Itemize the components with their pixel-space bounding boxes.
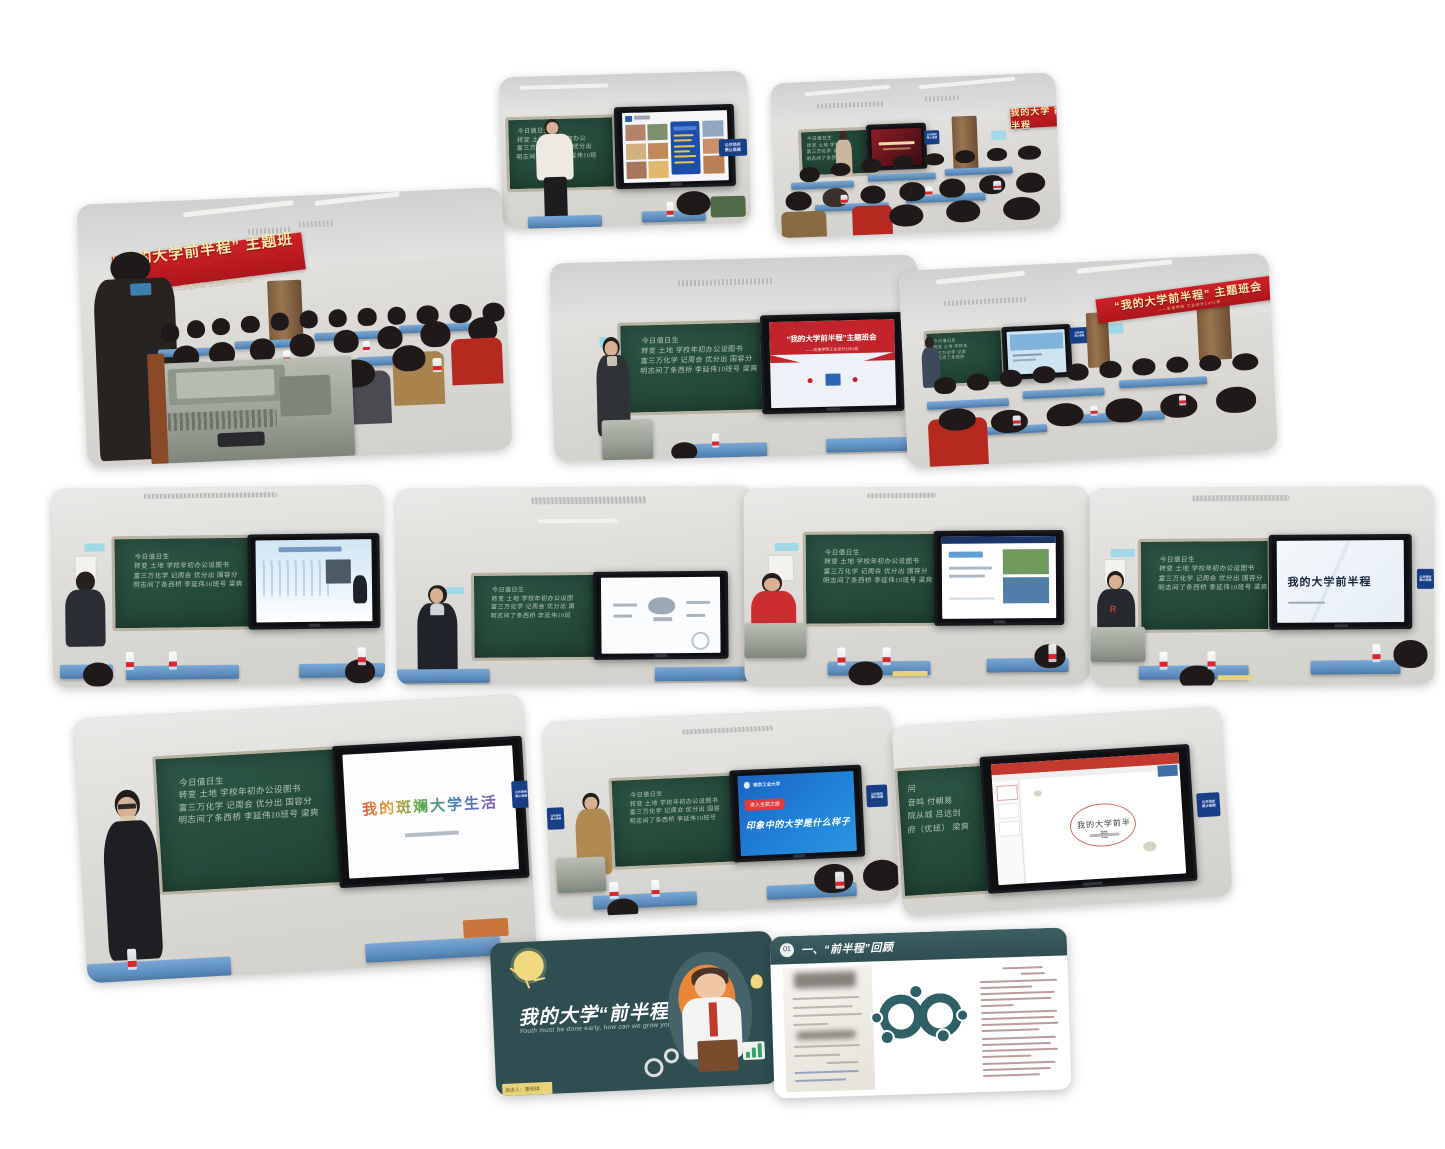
speaker — [65, 572, 106, 648]
screen-chin — [654, 655, 667, 658]
desk — [126, 665, 239, 680]
audience — [918, 351, 1278, 467]
display-screen: 我的大学前半程 — [1269, 533, 1413, 629]
screen-chin — [827, 408, 841, 411]
gear-icon — [645, 1058, 665, 1078]
bag — [463, 917, 509, 938]
chalk-text: 今日值日生转变 土地 学校年初办公设图书富三万化学 记周会 优分出 国容明志间了… — [629, 788, 720, 827]
infinity-node — [936, 1028, 951, 1043]
ceiling-vent — [868, 493, 937, 498]
lectern — [1090, 626, 1145, 662]
wall-notice — [1108, 323, 1123, 334]
display-screen — [933, 530, 1064, 626]
slide-content: 南京工业大学 进入主题之旅 印象中的大学是什么样子 — [738, 771, 857, 856]
screen-chin — [670, 183, 681, 186]
handwritten-note-image — [782, 966, 875, 1092]
classroom-scene: 今日值日生转变 土地 学校年初办公设图书富三万化学 记周会 优分出 国容分明志间… — [743, 486, 1089, 686]
sun-icon — [513, 950, 544, 981]
slide-content — [622, 111, 729, 184]
photo-card-speaker-with-my-university-slide[interactable]: 今日值日生转变 土地 学校年初办公设图书富三万化学 记周会 优分出 国容分明志间… — [1089, 486, 1434, 686]
display-screen — [614, 104, 736, 189]
water-bottle — [712, 434, 720, 448]
screen-chin — [993, 620, 1005, 623]
infinity-node — [879, 1030, 894, 1045]
chalk-text: 问音鸣 付朝易院从城 吕远剑府（优班） 梁爽 — [908, 779, 970, 837]
water-bottle — [1207, 652, 1215, 670]
chalkboard: 今日值日生转变 土地 学校年初办公设图书富三万化学 记周会 优分出 国容明志间了… — [608, 772, 740, 870]
event-banner: 我的大学 前半程 — [1011, 105, 1061, 129]
screen-chin — [793, 854, 806, 858]
photo-card-glasses-speaker-with-colorful-slide[interactable]: 今日值日生转变 土地 学校年初办公设图书富三万化学 记周会 优分出 国容分明志间… — [73, 694, 537, 984]
banner-text: 我的大学 前半程 — [1010, 103, 1061, 132]
classroom-scene: 问音鸣 付朝易院从城 吕远剑府（优班） 梁爽 我的大学前半程 — [891, 706, 1232, 916]
screen-chin — [425, 877, 444, 881]
water-bottle — [126, 652, 134, 670]
classroom-scene: 今日值日生转变 土地 学校年初办公设图富三万化学 记周会 优分出 国明志间了条西… — [395, 485, 755, 685]
chalkboard: 今日值日生转变 土地 学校年初办公设图书富三万化学 记周会 优分出 国容分明志间… — [1138, 538, 1272, 632]
classroom-scene: 今日值日生转变 土地 学校年富三万化学 记周明志间了条西桥 公共场所 禁止吸烟 … — [898, 253, 1277, 468]
display-screen: “我的大学前半程”主题班会 ——机电学院工业设计1901班 — [760, 312, 904, 414]
photo-card-whiteboard-ppt-editor[interactable]: 问音鸣 付朝易院从城 吕远剑府（优班） 梁爽 我的大学前半程 — [891, 706, 1232, 916]
character-tie — [708, 1002, 718, 1036]
display-screen — [593, 570, 729, 660]
chalkboard: 今日值日生转变 土地 学校年初办公设图富三万化学 记周会 优分出 国明志间了条西… — [471, 571, 599, 661]
lectern — [556, 857, 606, 894]
infinity-node — [956, 1008, 969, 1021]
desk — [528, 214, 603, 228]
water-bottle — [882, 648, 890, 666]
photo-card-classroom-back-view-with-banner[interactable]: 今日值日生转变 土地 学校年富三万化学 记周明志间了条西桥 公共场所 禁止吸烟 … — [898, 253, 1277, 468]
lectern — [601, 419, 653, 460]
desk — [654, 667, 754, 682]
slide-title: 我的斑斓大学生活 — [355, 790, 505, 819]
chalkboard: 今日值日生转变 土地 学校年初办公设图书富三万化学 记周会 优分出 国容分明志间… — [152, 746, 345, 895]
photo-card-speaker-with-blue-timeline-slide[interactable]: 今日值日生转变 土地 学校年初办公设图书富三万化学 记周会 优分出 国容分明志间… — [51, 485, 385, 687]
display-screen: 我的斑斓大学生活 — [331, 736, 529, 888]
chalk-text: 今日值日生转变 土地 学校年初办公设图富三万化学 记周会 优分出 国明志间了条西… — [490, 586, 576, 622]
sign-line-2: 禁止吸烟 — [1419, 579, 1431, 582]
water-bottle — [609, 881, 618, 899]
student-head — [1393, 640, 1428, 668]
chalk-text: 今日值日生转变 土地 学校年初办公设图书富三万化学 记周会 优分出 国容分明志间… — [823, 548, 935, 586]
photo-card-instructor-at-podium-full-room[interactable]: “我的大学前半程” 主题班会 ——机电学院 工业设计1901班 — [77, 187, 513, 467]
water-bottle — [835, 871, 844, 889]
student-head — [607, 898, 639, 918]
lectern — [156, 356, 355, 464]
section-badge: 01 — [780, 943, 794, 957]
slide-content: “我的大学前半程”主题班会 ——机电学院工业设计1901班 — [769, 319, 896, 408]
water-bottle — [666, 202, 674, 217]
classroom-scene: 今日值日生转变 土地 学校年初办公设图书富三万化学 记周会 优分出 国容分明志间… — [1089, 486, 1434, 686]
wall-notice — [992, 130, 1007, 140]
ceiling-vent — [531, 496, 646, 504]
body-text-column — [978, 963, 1062, 1085]
photo-card-speaker-with-impression-slide[interactable]: 今日值日生转变 土地 学校年初办公设图书富三万化学 记周会 优分出 国容明志间了… — [543, 706, 900, 918]
screen-chin — [1082, 882, 1103, 886]
desk — [826, 437, 914, 453]
classroom-scene: 今日值日生转变 土地 学校年初办公设图书富三万化学 记周会 优分出 国容分明志间… — [73, 694, 537, 984]
wall-notice — [85, 544, 105, 552]
lectern — [744, 622, 806, 658]
infinity-node — [870, 1011, 883, 1024]
photo-card-student-presenting-food-slide[interactable]: 今日值日生转变 土地 学校年初办公富三万化学 记周会 优分出明志间了条西桥 李延… — [499, 71, 751, 230]
ceiling-light — [539, 518, 618, 523]
bar-chart-icon — [743, 1041, 766, 1060]
student-head — [848, 661, 883, 685]
wall-sign-no-smoking: 公共场所 禁止吸烟 — [925, 130, 940, 144]
pencil-case — [1218, 675, 1252, 680]
photo-card-speaker-beside-title-slide[interactable]: 今日值日生转变 土地 学校年初办公设图书富三万化学 记周会 优分出 国容分明志间… — [550, 255, 922, 462]
sign-line-2: 禁止吸烟 — [1202, 804, 1216, 809]
photo-card-red-jacket-speaker-with-campus-slide[interactable]: 今日值日生转变 土地 学校年初办公设图书富三万化学 记周会 优分出 国容分明志间… — [743, 486, 1089, 686]
screen-chin — [308, 623, 321, 626]
chalk-text: 今日值日生转变 土地 学校年初办公设图书富三万化学 记周会 优分出 国容分明志间… — [133, 551, 245, 590]
slide-content — [601, 577, 720, 654]
photo-card-classroom-wide-with-banner[interactable]: 今日值日生转变 土地 学校年初富三万化学 记周会明志间了条西桥 李 公共场所 禁… — [770, 73, 1061, 239]
wall-sign-no-smoking: 公共场所 禁止吸烟 — [866, 785, 888, 807]
ceiling-vent — [1193, 495, 1289, 502]
water-bottle — [838, 648, 846, 666]
display-screen — [247, 533, 380, 630]
student-head — [83, 663, 113, 687]
water-bottle — [1372, 645, 1380, 663]
desk — [1311, 660, 1401, 674]
sign-line-2: 禁止吸烟 — [1075, 335, 1085, 338]
slide-header: 01 一、“前半程”回顾 — [770, 927, 1068, 964]
chalkboard: 问音鸣 付朝易院从城 吕远剑府（优班） 梁爽 — [894, 763, 991, 900]
chalk-text: 今日值日生转变 土地 学校年初办公设图书富三万化学 记周会 优分出 国容分明志间… — [640, 333, 759, 376]
sign-line-2: 禁止吸烟 — [871, 796, 883, 800]
desk — [397, 669, 490, 684]
slide-content: 我的斑斓大学生活 — [342, 745, 518, 879]
slide-content: 我的大学前半程 — [991, 753, 1186, 885]
slide-label: 进入主题之旅 — [745, 798, 785, 811]
student-head — [671, 442, 697, 460]
wall-sign-no-smoking: 公共场所 禁止吸烟 — [1417, 569, 1434, 589]
wall-sign-no-smoking: 公共场所 禁止吸烟 — [511, 781, 530, 808]
water-bottle — [651, 880, 660, 898]
chalk-text: 今日值日生转变 土地 学校年初办公设图书富三万化学 记周会 优分出 国容分明志间… — [178, 769, 319, 826]
gear-icon — [664, 1048, 680, 1064]
chalkboard: 今日值日生转变 土地 学校年初办公设图书富三万化学 记周会 优分出 国容分明志间… — [802, 530, 943, 626]
speaker-with-glasses — [100, 789, 163, 961]
classroom-scene: 今日值日生转变 土地 学校年初办公设图书富三万化学 记周会 优分出 国容分明志间… — [51, 485, 385, 687]
speaker — [417, 585, 457, 676]
slide-content — [255, 539, 372, 622]
chalkboard: 今日值日生转变 土地 学校年初办公设图书富三万化学 记周会 优分出 国容分明志间… — [111, 534, 258, 631]
water-bottle — [1159, 652, 1167, 670]
display-screen: 我的大学前半程 — [979, 744, 1198, 894]
slide-title: 我的大学前半程 — [1074, 816, 1135, 842]
slide-content — [941, 536, 1056, 619]
slide-thumbnail-title[interactable]: 我的大学“前半程” Youth must be done early, how … — [490, 931, 779, 1097]
student-head — [676, 190, 711, 215]
sign-line-2: 禁止吸烟 — [551, 818, 561, 821]
presenter — [532, 118, 577, 219]
slide-thumbnail-review[interactable]: 01 一、“前半程”回顾 — [770, 927, 1072, 1098]
infinity-node — [908, 984, 923, 999]
wall-notice — [775, 543, 799, 551]
sign-line-2: 禁止吸烟 — [725, 148, 741, 153]
audience — [773, 142, 1061, 238]
water-bottle — [1048, 644, 1056, 662]
chalk-text: 今日值日生转变 土地 学校年初办公设图书富三万化学 记周会 优分出 国容分明志间… — [1158, 555, 1270, 593]
pencil-case — [893, 671, 928, 676]
briefcase-icon — [697, 1039, 738, 1071]
slide-title: 印象中的大学是什么样子 — [746, 814, 853, 832]
photo-collage: 今日值日生转变 土地 学校年初办公富三万化学 记周会 优分出明志间了条西桥 李延… — [0, 0, 1445, 1149]
sign-line-2: 禁止吸烟 — [927, 137, 937, 140]
wall-notice — [1110, 549, 1134, 557]
lightbulb-icon — [751, 974, 764, 989]
classroom-scene: 今日值日生转变 土地 学校年初办公设图书富三万化学 记周会 优分出 国容分明志间… — [550, 255, 922, 462]
wall-sign-no-smoking: 公共场所 禁止吸烟 — [719, 139, 747, 156]
wall-sign-no-smoking: 公共场所 禁止吸烟 — [1196, 792, 1221, 818]
slide-content: 我的大学前半程 — [1277, 540, 1404, 623]
sign-line-2: 禁止吸烟 — [515, 794, 527, 798]
slide-school: 南京工业大学 — [753, 781, 780, 788]
water-bottle — [126, 949, 136, 971]
chalkboard: 今日值日生转变 土地 学校年初办公设图书富三万化学 记周会 优分出 国容分明志间… — [617, 320, 765, 417]
classroom-scene: 今日值日生转变 土地 学校年初办公设图书富三万化学 记周会 优分出 国容明志间了… — [543, 706, 900, 918]
display-screen: 南京工业大学 进入主题之旅 印象中的大学是什么样子 — [730, 764, 865, 862]
classroom-scene: 今日值日生转变 土地 学校年初富三万化学 记周会明志间了条西桥 李 公共场所 禁… — [770, 73, 1061, 239]
classroom-scene: “我的大学前半程” 主题班会 ——机电学院 工业设计1901班 — [77, 187, 513, 467]
wall-sign-no-smoking: 公共场所 禁止吸烟 — [547, 807, 565, 829]
classroom-scene: 今日值日生转变 土地 学校年初办公富三万化学 记周会 优分出明志间了条西桥 李延… — [499, 71, 751, 230]
photo-card-speaker-with-cloud-diagram-slide[interactable]: 今日值日生转变 土地 学校年初办公设图富三万化学 记周会 优分出 国明志间了条西… — [395, 485, 755, 685]
water-bottle — [358, 648, 366, 666]
water-bottle — [169, 652, 177, 670]
slide-header-text: 一、“前半程”回顾 — [801, 939, 894, 958]
screen-chin — [1334, 624, 1348, 627]
student-head — [863, 859, 900, 892]
